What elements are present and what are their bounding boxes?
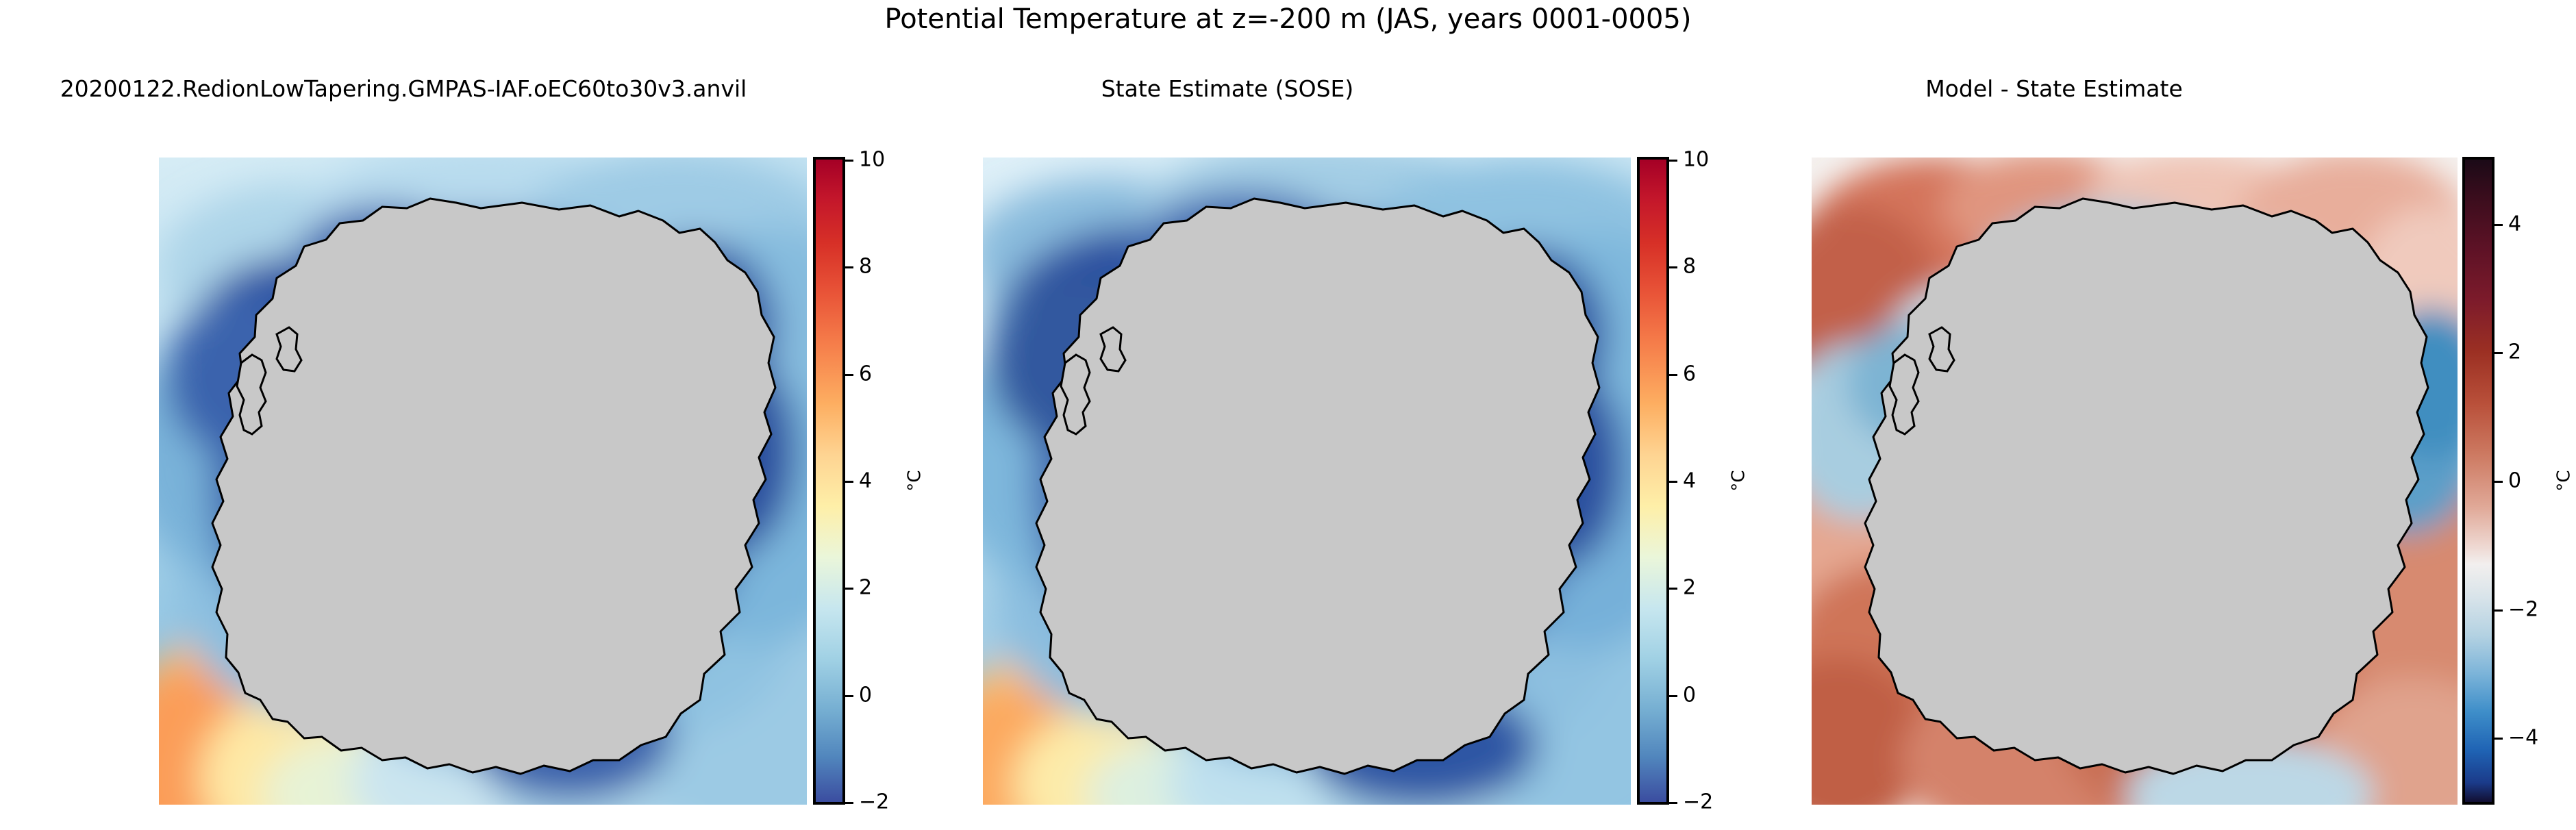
colorbar-gradient-model	[816, 160, 842, 802]
colorbar-tick	[2492, 481, 2503, 483]
colorbar-ticklabel: 8	[859, 255, 872, 279]
colorbar-tick	[842, 374, 853, 376]
colorbar-ticklabel: −4	[2508, 726, 2538, 750]
colorbar-unit-label: °C	[1729, 470, 1749, 491]
colorbar-tick	[1666, 160, 1677, 162]
colorbar-ticklabel: 6	[1683, 362, 1696, 386]
colorbar-ticklabel: 4	[859, 469, 872, 493]
temperature-difference-field	[1812, 158, 2458, 805]
colorbar-tick	[1666, 802, 1677, 804]
antarctica-landmass-model	[212, 199, 775, 774]
colorbar-tick	[842, 802, 853, 804]
colorbar-model[interactable]: 10 8 6 4 2 0 −2 °C	[813, 157, 845, 805]
colorbar-ticklabel: 2	[859, 576, 872, 600]
colorbar-tick	[1666, 695, 1677, 697]
colorbar-ticklabel: 2	[1683, 576, 1696, 600]
colorbar-tick	[842, 481, 853, 483]
temperature-field-model	[159, 158, 807, 805]
colorbar-tick	[1666, 481, 1677, 483]
colorbar-ticklabel: 0	[2508, 469, 2521, 493]
colorbar-gradient-difference	[2465, 160, 2492, 802]
colorbar-ticklabel: 4	[1683, 469, 1696, 493]
colorbar-tick	[1666, 588, 1677, 590]
figure-suptitle: Potential Temperature at z=-200 m (JAS, …	[0, 4, 2576, 34]
colorbar-gradient-sose	[1640, 160, 1666, 802]
colorbar-difference[interactable]: 4 2 0 −2 −4 °C	[2462, 157, 2494, 805]
panel-title-sose: State Estimate (SOSE)	[824, 77, 1631, 101]
colorbar-ticklabel: 2	[2508, 340, 2521, 364]
map-panel-sose[interactable]	[983, 158, 1631, 805]
colorbar-unit-label: °C	[2554, 470, 2575, 491]
colorbar-ticklabel: 0	[859, 683, 872, 707]
colorbar-ticklabel: 8	[1683, 255, 1696, 279]
colorbar-tick	[2492, 609, 2503, 612]
colorbar-tick	[842, 588, 853, 590]
colorbar-tick	[1666, 374, 1677, 376]
colorbar-ticklabel: −2	[2508, 597, 2538, 621]
colorbar-ticklabel: 10	[1683, 148, 1709, 172]
map-panel-model[interactable]	[159, 158, 807, 805]
colorbar-ticklabel: 4	[2508, 212, 2521, 236]
colorbar-tick	[842, 695, 853, 697]
temperature-field-sose	[983, 158, 1631, 805]
colorbar-ticklabel: −2	[859, 790, 889, 814]
map-panel-difference[interactable]	[1812, 158, 2458, 805]
colorbar-tick	[2492, 224, 2503, 226]
figure-canvas: Potential Temperature at z=-200 m (JAS, …	[0, 0, 2576, 830]
colorbar-ticklabel: 0	[1683, 683, 1696, 707]
colorbar-ticklabel: 10	[859, 148, 885, 172]
colorbar-sose[interactable]: 10 8 6 4 2 0 −2 °C	[1637, 157, 1669, 805]
colorbar-tick	[2492, 738, 2503, 740]
colorbar-unit-label: °C	[905, 470, 925, 491]
antarctica-landmass-difference	[1865, 199, 2428, 774]
colorbar-tick	[842, 266, 853, 268]
colorbar-tick	[2492, 352, 2503, 354]
panel-title-model: 20200122.RedionLowTapering.GMPAS-IAF.oEC…	[0, 77, 807, 101]
colorbar-ticklabel: 6	[859, 362, 872, 386]
colorbar-tick	[842, 160, 853, 162]
panel-title-difference: Model - State Estimate	[1651, 77, 2458, 101]
antarctica-landmass-sose	[1036, 199, 1599, 774]
colorbar-tick	[1666, 266, 1677, 268]
colorbar-ticklabel: −2	[1683, 790, 1713, 814]
